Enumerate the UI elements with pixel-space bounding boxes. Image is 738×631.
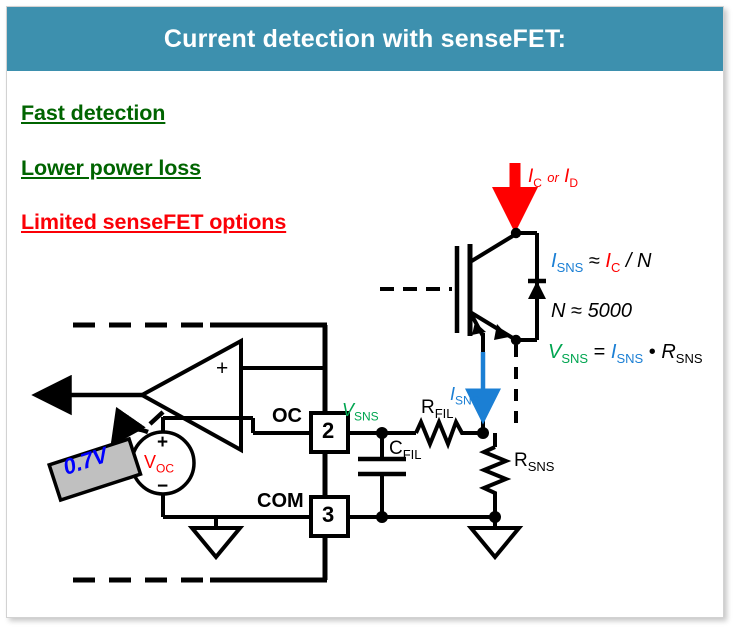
pin-label-oc: OC: [272, 405, 302, 428]
eq1-slashn: / N: [626, 250, 652, 272]
eq3-rsub: SNS: [676, 351, 703, 366]
cfil-sub: FIL: [403, 447, 422, 462]
id-sub: D: [569, 176, 578, 190]
ground-symbol-right: [471, 517, 519, 557]
label-current-in: IC or ID: [528, 166, 578, 190]
voc-sub: OC: [156, 462, 174, 476]
rsns-sub: SNS: [528, 459, 555, 474]
eq2-n: N: [551, 300, 565, 322]
comparator-plus-sign: +: [216, 357, 228, 381]
slide-root: Current detection with senseFET: Fast de…: [0, 0, 738, 631]
eq1-icsub: C: [611, 260, 620, 275]
ic-sub: C: [533, 176, 542, 190]
label-cfil: CFIL: [389, 438, 422, 462]
vsns-v: V: [342, 400, 354, 420]
label-rfil: RFIL: [421, 397, 454, 421]
rfil-r: R: [421, 397, 435, 418]
voc-plus-sign: +: [157, 432, 168, 454]
voc-minus-sign: −: [157, 476, 168, 498]
comparator-symbol: [38, 341, 325, 450]
pin-number-2: 2: [322, 418, 334, 444]
eq3-v: V: [548, 341, 561, 363]
eq2-approx: ≈: [571, 300, 582, 322]
sensefet-symbol: [380, 228, 521, 345]
eq3-eq: =: [594, 341, 606, 363]
eq1-isub: SNS: [557, 260, 584, 275]
eq3-r: R: [661, 341, 675, 363]
isns-sub: SNS: [455, 394, 480, 408]
label-isns: ISNS: [450, 384, 480, 408]
voc-v: V: [144, 452, 156, 472]
label-rsns: RSNS: [514, 450, 554, 474]
eq3-vsub: SNS: [561, 351, 588, 366]
eq2-value: 5000: [588, 300, 633, 322]
pin-label-com: COM: [257, 490, 304, 513]
freewheel-diode: [516, 233, 546, 340]
eq3-isub: SNS: [616, 351, 643, 366]
label-vsns: VSNS: [342, 400, 379, 424]
cfil-c: C: [389, 438, 403, 459]
label-voc: VOC: [144, 452, 174, 476]
comparator-minus-sign: −: [216, 407, 228, 431]
or-word: or: [547, 170, 559, 185]
ground-symbol-left: [192, 517, 240, 557]
vsns-sub: SNS: [354, 410, 379, 424]
equation-n: N ≈ 5000: [551, 300, 632, 323]
eq3-dot: •: [649, 341, 656, 363]
pin-number-3: 3: [322, 502, 334, 528]
rsns-resistor: [484, 433, 506, 523]
equation-vsns: VSNS = ISNS • RSNS: [548, 341, 703, 366]
pin-block: [311, 325, 348, 580]
rfil-sub: FIL: [435, 406, 454, 421]
equation-isns: ISNS ≈ IC / N: [551, 250, 651, 275]
eq1-approx: ≈: [589, 250, 600, 272]
rsns-r: R: [514, 450, 528, 471]
